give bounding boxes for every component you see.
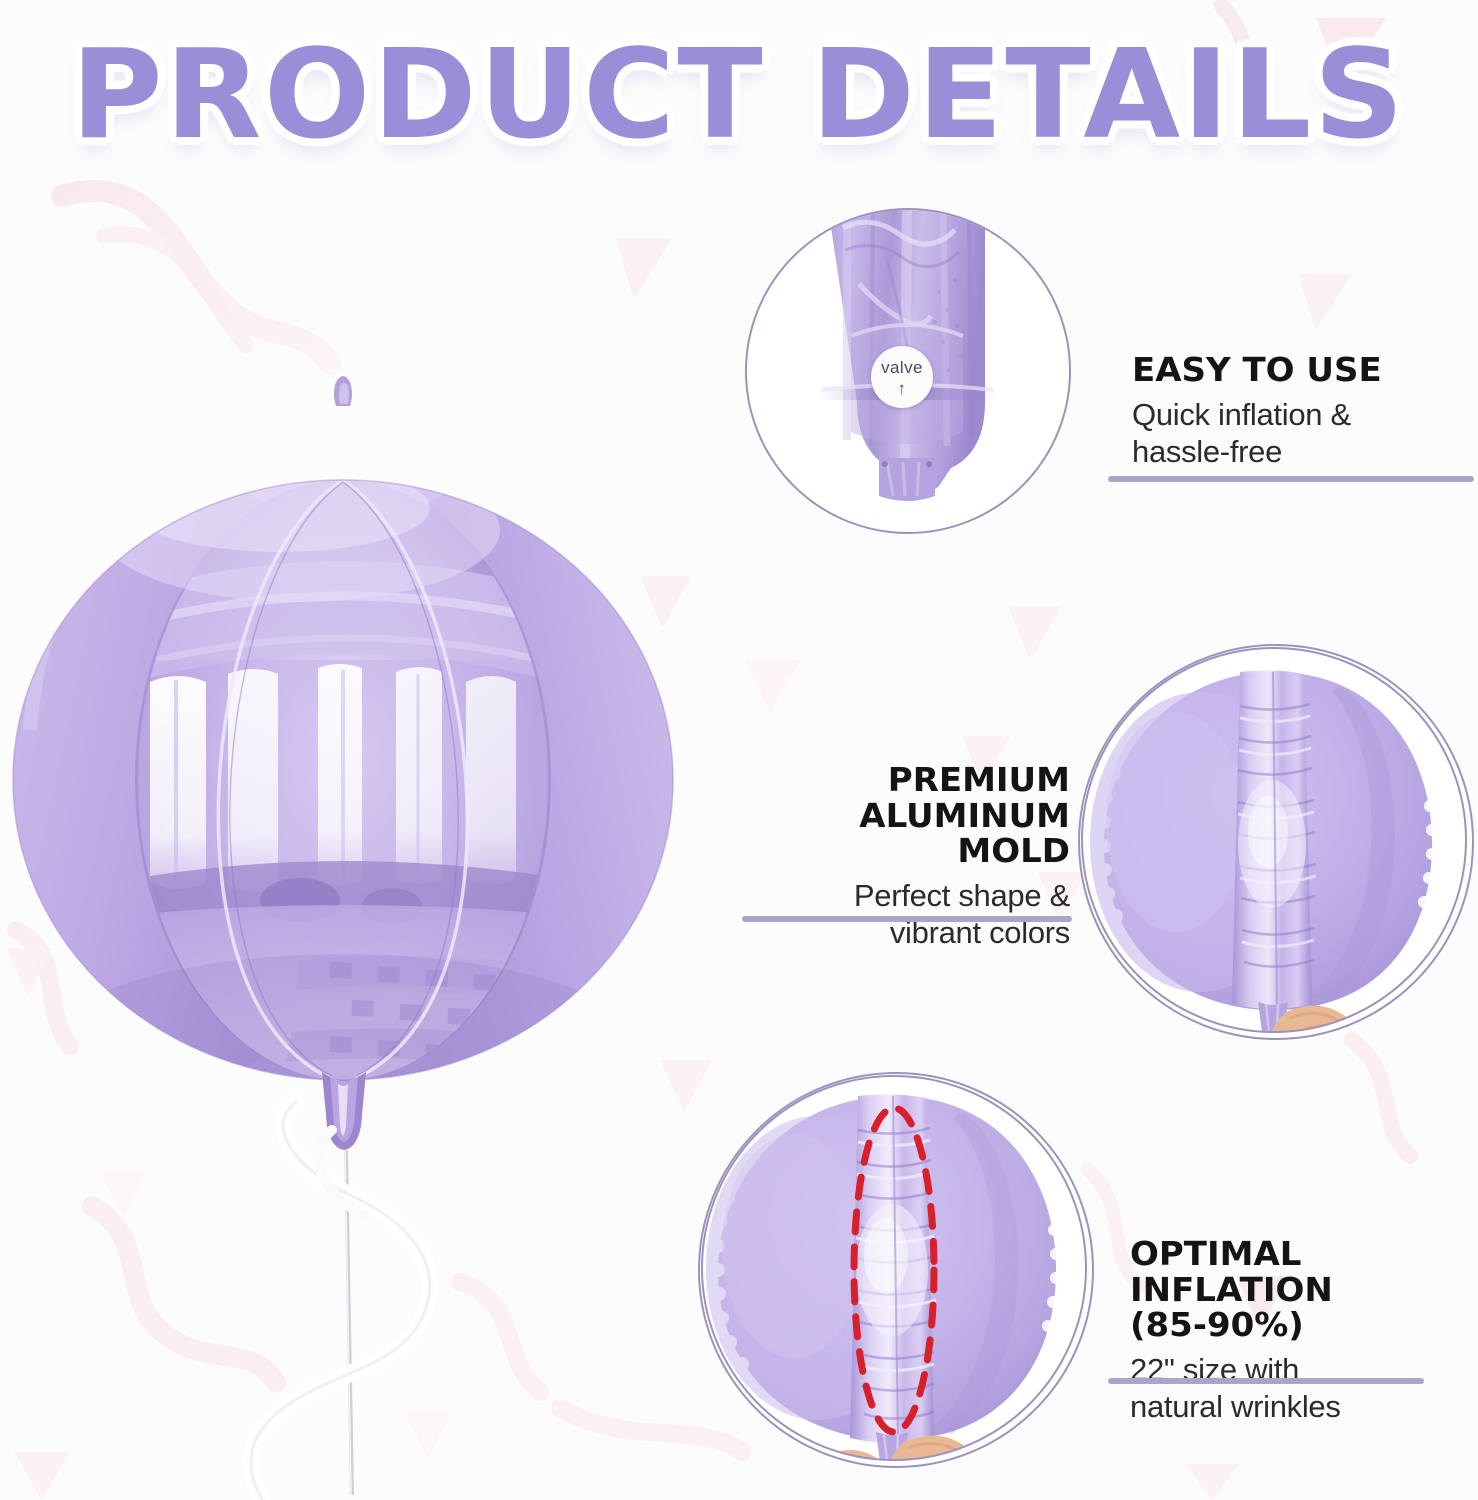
feature-divider-3 [1108,1378,1424,1384]
feature-heading-line1: OPTIMAL INFLATION [1130,1234,1333,1309]
page-title: PRODUCT DETAILS [71,34,1406,157]
feature-heading-line2: ALUMINUM MOLD [859,796,1070,871]
feature-heading-line2: (85-90%) [1130,1305,1304,1344]
page-title-wrap: PRODUCT DETAILS [0,42,1478,150]
feature-heading-line1: PREMIUM [888,760,1070,799]
feature-body-optimal-inflation: 22" size with natural wrinkles [1130,1351,1470,1425]
feature-body-line2: natural wrinkles [1130,1389,1341,1424]
infographic-canvas: PRODUCT DETAILS [0,0,1478,1500]
feature-body-aluminum-mold: Perfect shape & vibrant colors [770,877,1070,951]
feature-photo-valve: valve ↑ [745,208,1071,534]
valve-label: valve [881,358,923,378]
feature-photo-aluminum-mold [1078,644,1474,1040]
feature-heading-aluminum-mold: PREMIUM ALUMINUM MOLD [761,762,1070,869]
feature-body-line1: Perfect shape & [854,878,1070,913]
feature-text-aluminum-mold: PREMIUM ALUMINUM MOLD Perfect shape & vi… [770,762,1070,951]
feature-divider-2 [742,916,1072,922]
feature-heading-easy-to-use: EASY TO USE [1132,352,1472,388]
feature-body-line1: Quick inflation & [1132,397,1351,432]
feature-photo-optimal-inflation [698,1072,1094,1468]
feature-body-line2: hassle-free [1132,434,1282,469]
feature-text-easy-to-use: EASY TO USE Quick inflation & hassle-fre… [1132,352,1462,470]
feature-divider-1 [1108,476,1474,482]
feature-body-easy-to-use: Quick inflation & hassle-free [1132,396,1462,470]
valve-sticker: valve ↑ [871,346,933,408]
feature-text-optimal-inflation: OPTIMAL INFLATION (85-90%) 22" size with… [1130,1236,1470,1425]
hero-balloon [0,360,700,1500]
feature-heading-optimal-inflation: OPTIMAL INFLATION (85-90%) [1130,1236,1478,1343]
valve-arrow-icon: ↑ [898,380,907,397]
